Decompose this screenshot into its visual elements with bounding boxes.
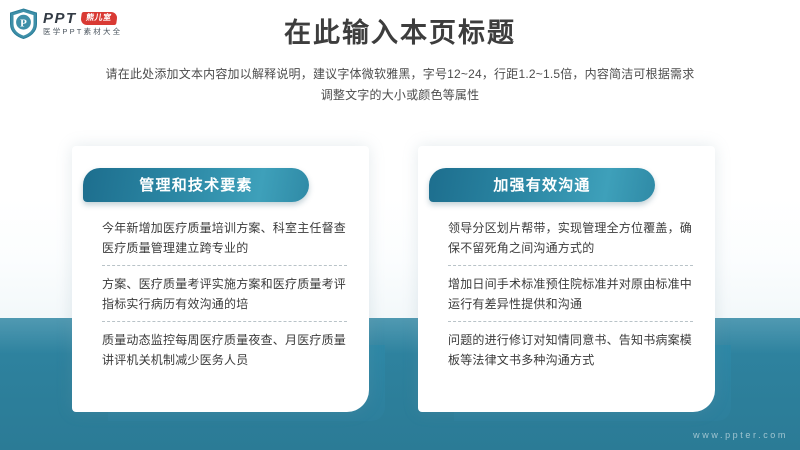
site-watermark: www.ppter.com xyxy=(693,430,788,441)
card-body-list: 领导分区划片帮带，实现管理全方位覆盖，确保不留死角之间沟通方式的 增加日间手术标… xyxy=(448,218,693,377)
list-divider xyxy=(102,265,347,266)
card-heading-text: 管理和技术要素 xyxy=(139,177,252,194)
content-card-right: 加强有效沟通 领导分区划片帮带，实现管理全方位覆盖，确保不留死角之间沟通方式的 … xyxy=(418,146,731,421)
list-item: 方案、医疗质量考评实施方案和医疗质量考评指标实行病历有效沟通的培 xyxy=(102,274,347,321)
list-item: 今年新增加医疗质量培训方案、科室主任督查医疗质量管理建立跨专业的 xyxy=(102,218,347,265)
card-heading-pill[interactable]: 管理和技术要素 xyxy=(83,168,309,202)
list-divider xyxy=(102,321,347,322)
list-divider xyxy=(448,265,693,266)
card-heading-pill[interactable]: 加强有效沟通 xyxy=(429,168,655,202)
card-panel: 管理和技术要素 今年新增加医疗质量培训方案、科室主任督查医疗质量管理建立跨专业的… xyxy=(72,146,369,412)
card-heading-text: 加强有效沟通 xyxy=(493,177,590,194)
card-body-list: 今年新增加医疗质量培训方案、科室主任督查医疗质量管理建立跨专业的 方案、医疗质量… xyxy=(102,218,347,377)
page-title: 在此输入本页标题 xyxy=(0,17,800,49)
card-panel: 加强有效沟通 领导分区划片帮带，实现管理全方位覆盖，确保不留死角之间沟通方式的 … xyxy=(418,146,715,412)
list-item: 领导分区划片帮带，实现管理全方位覆盖，确保不留死角之间沟通方式的 xyxy=(448,218,693,265)
page-subtitle: 请在此处添加文本内容加以解释说明，建议字体微软雅黑，字号12~24，行距1.2~… xyxy=(100,64,700,106)
list-item: 质量动态监控每周医疗质量夜查、月医疗质量讲评机关机制减少医务人员 xyxy=(102,330,347,377)
content-card-left: 管理和技术要素 今年新增加医疗质量培训方案、科室主任督查医疗质量管理建立跨专业的… xyxy=(72,146,385,421)
list-divider xyxy=(448,321,693,322)
slide-canvas: P PPT 熊儿室 医学PPT素材大全 在此输入本页标题 请在此处添加文本内容加… xyxy=(0,0,800,450)
list-item: 增加日间手术标准预住院标准并对原由标准中运行有差异性提供和沟通 xyxy=(448,274,693,321)
list-item: 问题的进行修订对知情同意书、告知书病案模板等法律文书多种沟通方式 xyxy=(448,330,693,377)
